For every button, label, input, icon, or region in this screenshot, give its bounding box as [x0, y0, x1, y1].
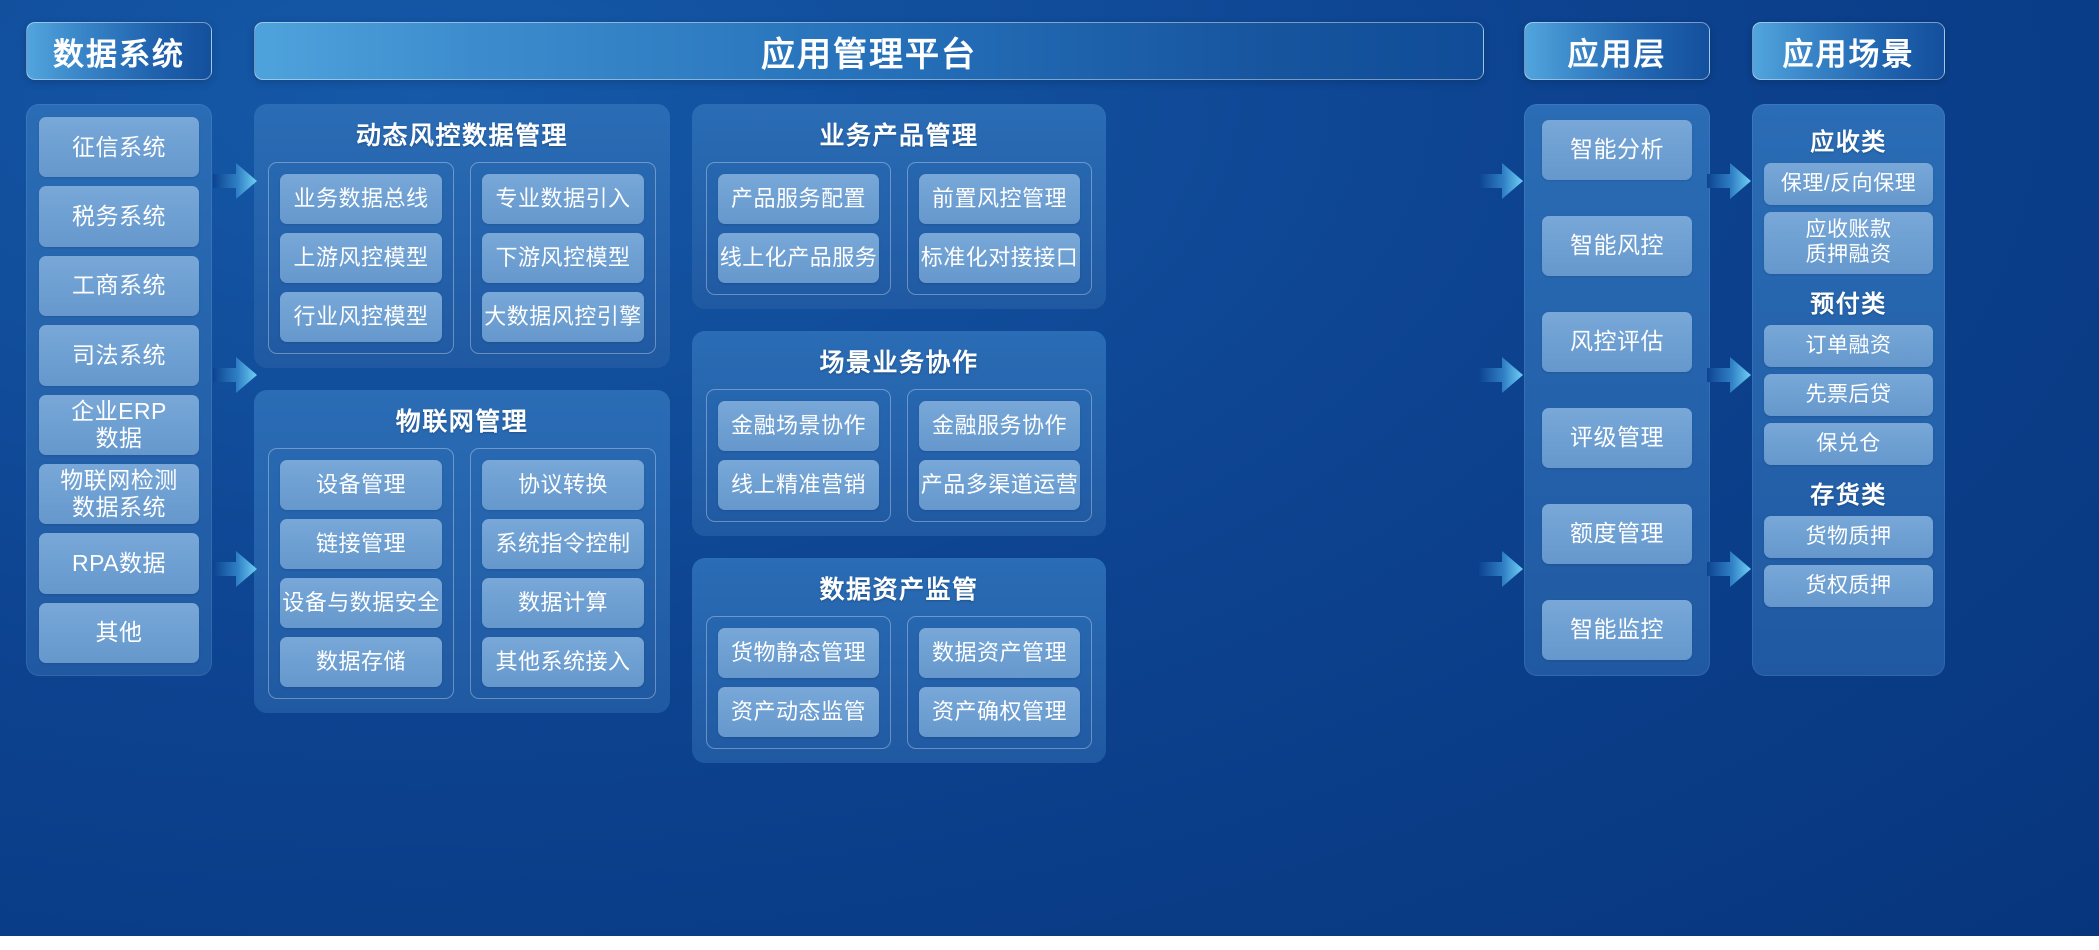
- column-title-data-system: 数据系统: [53, 29, 185, 74]
- asset-item-r0[interactable]: 数据资产管理: [919, 628, 1080, 678]
- app-layer-item-2[interactable]: 风控评估: [1542, 312, 1692, 372]
- group-title-scenario-business-collaboration: 场景业务协作: [706, 343, 1092, 379]
- subgroup-asset-right: 数据资产管理资产确权管理: [907, 616, 1092, 749]
- data-system-item-1[interactable]: 税务系统: [39, 186, 199, 246]
- app-layer-item-5-label: 智能监控: [1570, 616, 1664, 643]
- risk-data-item-r1[interactable]: 下游风控模型: [482, 233, 644, 283]
- scene-category-title-0: 应收类: [1764, 116, 1933, 163]
- data-system-item-6[interactable]: RPA数据: [39, 533, 199, 593]
- iot-item-r3-label: 其他系统接入: [495, 649, 630, 675]
- arrow-layer-to-scene-mid-icon: [1706, 352, 1752, 398]
- app-layer-item-0-label: 智能分析: [1570, 136, 1664, 163]
- iot-item-r1[interactable]: 系统指令控制: [482, 519, 644, 569]
- subgroup-risk-data-left: 业务数据总线上游风控模型行业风控模型: [268, 162, 454, 354]
- risk-data-item-l1[interactable]: 上游风控模型: [280, 233, 442, 283]
- product-item-l1[interactable]: 线上化产品服务: [718, 233, 879, 283]
- scene-item-1-1-label: 先票后贷: [1806, 383, 1892, 408]
- column-title-application-layer: 应用层: [1568, 29, 1667, 74]
- scene-category-items-0: 保理/反向保理应收账款质押融资: [1764, 163, 1933, 274]
- subgroup-product-left: 产品服务配置线上化产品服务: [706, 162, 891, 295]
- column-header-data-system: 数据系统: [26, 22, 212, 80]
- architecture-diagram: 数据系统 征信系统税务系统工商系统司法系统企业ERP数据物联网检测数据系统RPA…: [0, 0, 2099, 950]
- scene-biz-item-l0-label: 金融场景协作: [731, 413, 866, 439]
- app-layer-item-0[interactable]: 智能分析: [1542, 120, 1692, 180]
- scene-biz-item-l1-label: 线上精准营销: [731, 472, 866, 498]
- data-system-item-5[interactable]: 物联网检测数据系统: [39, 464, 199, 524]
- platform-body: 动态风控数据管理 业务数据总线上游风控模型行业风控模型 专业数据引入下游风控模型…: [254, 104, 1484, 763]
- group-title-risk-data-management: 动态风控数据管理: [268, 116, 656, 152]
- arrow-data-to-platform-mid-icon: [212, 352, 258, 398]
- column-header-application-scenarios: 应用场景: [1752, 22, 1945, 80]
- column-header-application-layer: 应用层: [1524, 22, 1710, 80]
- app-layer-item-2-label: 风控评估: [1570, 328, 1664, 355]
- product-item-r1-label: 标准化对接接口: [921, 245, 1079, 271]
- arrow-layer-to-scene-bottom-icon: [1706, 546, 1752, 592]
- scene-biz-item-r1[interactable]: 产品多渠道运营: [919, 460, 1080, 510]
- data-system-item-6-label: RPA数据: [72, 550, 166, 577]
- scene-category-items-1: 订单融资先票后贷保兑仓: [1764, 325, 1933, 465]
- column-application-scenarios: 应用场景 应收类保理/反向保理应收账款质押融资预付类订单融资先票后贷保兑仓存货类…: [1752, 0, 1945, 676]
- iot-item-l3-label: 数据存储: [316, 649, 406, 675]
- scene-item-0-0[interactable]: 保理/反向保理: [1764, 163, 1933, 205]
- scene-item-1-0-label: 订单融资: [1806, 334, 1892, 359]
- app-layer-item-4-label: 额度管理: [1570, 520, 1664, 547]
- subgroup-iot-left: 设备管理链接管理设备与数据安全数据存储: [268, 448, 454, 699]
- platform-left-stack: 动态风控数据管理 业务数据总线上游风控模型行业风控模型 专业数据引入下游风控模型…: [254, 104, 670, 763]
- column-application-layer: 应用层 智能分析智能风控风控评估评级管理额度管理智能监控: [1524, 0, 1710, 676]
- application-layer-panel: 智能分析智能风控风控评估评级管理额度管理智能监控: [1524, 104, 1710, 676]
- subgroup-asset-left: 货物静态管理资产动态监管: [706, 616, 891, 749]
- asset-item-r1-label: 资产确权管理: [932, 699, 1067, 725]
- asset-item-r0-label: 数据资产管理: [932, 640, 1067, 666]
- scene-item-0-1-label: 应收账款质押融资: [1806, 218, 1892, 268]
- risk-data-item-l0[interactable]: 业务数据总线: [280, 174, 442, 224]
- scene-item-2-1-label: 货权质押: [1806, 574, 1892, 599]
- iot-item-r0[interactable]: 协议转换: [482, 460, 644, 510]
- group-risk-data-management: 动态风控数据管理 业务数据总线上游风控模型行业风控模型 专业数据引入下游风控模型…: [254, 104, 670, 368]
- risk-data-item-l1-label: 上游风控模型: [293, 245, 428, 271]
- app-layer-item-5[interactable]: 智能监控: [1542, 600, 1692, 660]
- iot-item-l1-label: 链接管理: [316, 531, 406, 557]
- asset-item-r1[interactable]: 资产确权管理: [919, 687, 1080, 737]
- iot-item-r3[interactable]: 其他系统接入: [482, 637, 644, 687]
- data-system-item-0-label: 征信系统: [72, 134, 166, 161]
- arrow-platform-to-layer-top-icon: [1478, 158, 1524, 204]
- subgroup-scene-left: 金融场景协作线上精准营销: [706, 389, 891, 522]
- iot-item-l2[interactable]: 设备与数据安全: [280, 578, 442, 628]
- scene-item-1-1[interactable]: 先票后贷: [1764, 374, 1933, 416]
- iot-item-l0[interactable]: 设备管理: [280, 460, 442, 510]
- scene-item-1-2[interactable]: 保兑仓: [1764, 423, 1933, 465]
- asset-item-l1-label: 资产动态监管: [731, 699, 866, 725]
- data-system-item-0[interactable]: 征信系统: [39, 117, 199, 177]
- group-data-asset-supervision: 数据资产监管 货物静态管理资产动态监管 数据资产管理资产确权管理: [692, 558, 1106, 763]
- arrow-data-to-platform-bottom-icon: [212, 546, 258, 592]
- asset-item-l0-label: 货物静态管理: [731, 640, 866, 666]
- data-system-item-3-label: 司法系统: [72, 342, 166, 369]
- iot-item-r1-label: 系统指令控制: [495, 531, 630, 557]
- column-title-platform: 应用管理平台: [761, 27, 977, 76]
- risk-data-item-l2[interactable]: 行业风控模型: [280, 292, 442, 342]
- scene-category-title-2: 存货类: [1764, 469, 1933, 516]
- product-item-r0[interactable]: 前置风控管理: [919, 174, 1080, 224]
- data-system-item-3[interactable]: 司法系统: [39, 325, 199, 385]
- subgroup-risk-data-right: 专业数据引入下游风控模型大数据风控引擎: [470, 162, 656, 354]
- product-item-r1[interactable]: 标准化对接接口: [919, 233, 1080, 283]
- scene-biz-item-r1-label: 产品多渠道运营: [921, 472, 1079, 498]
- iot-item-l0-label: 设备管理: [316, 472, 406, 498]
- data-system-item-4[interactable]: 企业ERP数据: [39, 395, 199, 455]
- column-title-application-scenarios: 应用场景: [1783, 29, 1915, 74]
- scene-item-2-1[interactable]: 货权质押: [1764, 565, 1933, 607]
- data-system-item-7-label: 其他: [96, 619, 143, 646]
- iot-item-r0-label: 协议转换: [518, 472, 608, 498]
- product-item-r0-label: 前置风控管理: [932, 186, 1067, 212]
- product-item-l0[interactable]: 产品服务配置: [718, 174, 879, 224]
- arrow-layer-to-scene-top-icon: [1706, 158, 1752, 204]
- risk-data-item-l0-label: 业务数据总线: [293, 186, 428, 212]
- scene-category-title-1: 预付类: [1764, 278, 1933, 325]
- scene-biz-item-l0[interactable]: 金融场景协作: [718, 401, 879, 451]
- subgroup-iot-right: 协议转换系统指令控制数据计算其他系统接入: [470, 448, 656, 699]
- scene-category-1: 预付类订单融资先票后贷保兑仓: [1764, 278, 1933, 465]
- iot-item-r2-label: 数据计算: [518, 590, 608, 616]
- column-data-system: 数据系统 征信系统税务系统工商系统司法系统企业ERP数据物联网检测数据系统RPA…: [26, 0, 212, 676]
- scene-item-1-0[interactable]: 订单融资: [1764, 325, 1933, 367]
- column-application-management-platform: 应用管理平台 动态风控数据管理 业务数据总线上游风控模型行业风控模型 专业数据引…: [254, 0, 1484, 763]
- app-layer-item-4[interactable]: 额度管理: [1542, 504, 1692, 564]
- data-system-panel: 征信系统税务系统工商系统司法系统企业ERP数据物联网检测数据系统RPA数据其他: [26, 104, 212, 676]
- scene-item-0-0-label: 保理/反向保理: [1781, 172, 1916, 197]
- group-business-product-management: 业务产品管理 产品服务配置线上化产品服务 前置风控管理标准化对接接口: [692, 104, 1106, 309]
- iot-item-r2[interactable]: 数据计算: [482, 578, 644, 628]
- risk-data-item-r2-label: 大数据风控引擎: [484, 304, 642, 330]
- group-title-business-product-management: 业务产品管理: [706, 116, 1092, 152]
- risk-data-item-r0[interactable]: 专业数据引入: [482, 174, 644, 224]
- data-system-item-1-label: 税务系统: [72, 203, 166, 230]
- scene-biz-item-r0[interactable]: 金融服务协作: [919, 401, 1080, 451]
- risk-data-item-l2-label: 行业风控模型: [293, 304, 428, 330]
- column-header-platform: 应用管理平台: [254, 22, 1484, 80]
- subgroup-scene-right: 金融服务协作产品多渠道运营: [907, 389, 1092, 522]
- app-layer-item-1[interactable]: 智能风控: [1542, 216, 1692, 276]
- data-system-item-2[interactable]: 工商系统: [39, 256, 199, 316]
- data-system-item-2-label: 工商系统: [72, 272, 166, 299]
- asset-item-l1[interactable]: 资产动态监管: [718, 687, 879, 737]
- group-title-data-asset-supervision: 数据资产监管: [706, 570, 1092, 606]
- scene-category-items-2: 货物质押货权质押: [1764, 516, 1933, 607]
- asset-item-l0[interactable]: 货物静态管理: [718, 628, 879, 678]
- risk-data-item-r0-label: 专业数据引入: [495, 186, 630, 212]
- platform-right-stack: 业务产品管理 产品服务配置线上化产品服务 前置风控管理标准化对接接口 场景业务协…: [692, 104, 1106, 763]
- application-scenarios-panel: 应收类保理/反向保理应收账款质押融资预付类订单融资先票后贷保兑仓存货类货物质押货…: [1752, 104, 1945, 676]
- scene-item-0-1[interactable]: 应收账款质押融资: [1764, 212, 1933, 274]
- risk-data-item-r2[interactable]: 大数据风控引擎: [482, 292, 644, 342]
- group-scenario-business-collaboration: 场景业务协作 金融场景协作线上精准营销 金融服务协作产品多渠道运营: [692, 331, 1106, 536]
- arrow-platform-to-layer-bottom-icon: [1478, 546, 1524, 592]
- data-system-item-4-label: 企业ERP数据: [71, 398, 167, 452]
- scene-item-2-0[interactable]: 货物质押: [1764, 516, 1933, 558]
- product-item-l1-label: 线上化产品服务: [720, 245, 878, 271]
- scene-item-1-2-label: 保兑仓: [1816, 432, 1881, 457]
- iot-item-l3[interactable]: 数据存储: [280, 637, 442, 687]
- scene-category-0: 应收类保理/反向保理应收账款质押融资: [1764, 116, 1933, 274]
- data-system-item-5-label: 物联网检测数据系统: [60, 467, 178, 521]
- scene-biz-item-l1[interactable]: 线上精准营销: [718, 460, 879, 510]
- scene-item-2-0-label: 货物质押: [1806, 525, 1892, 550]
- app-layer-item-1-label: 智能风控: [1570, 232, 1664, 259]
- scene-biz-item-r0-label: 金融服务协作: [932, 413, 1067, 439]
- risk-data-item-r1-label: 下游风控模型: [495, 245, 630, 271]
- group-iot-management: 物联网管理 设备管理链接管理设备与数据安全数据存储 协议转换系统指令控制数据计算…: [254, 390, 670, 713]
- product-item-l0-label: 产品服务配置: [731, 186, 866, 212]
- data-system-item-7[interactable]: 其他: [39, 603, 199, 663]
- iot-item-l2-label: 设备与数据安全: [282, 590, 440, 616]
- subgroup-product-right: 前置风控管理标准化对接接口: [907, 162, 1092, 295]
- arrow-platform-to-layer-mid-icon: [1478, 352, 1524, 398]
- group-title-iot-management: 物联网管理: [268, 402, 656, 438]
- arrow-data-to-platform-top-icon: [212, 158, 258, 204]
- iot-item-l1[interactable]: 链接管理: [280, 519, 442, 569]
- app-layer-item-3[interactable]: 评级管理: [1542, 408, 1692, 468]
- app-layer-item-3-label: 评级管理: [1570, 424, 1664, 451]
- scene-category-2: 存货类货物质押货权质押: [1764, 469, 1933, 607]
